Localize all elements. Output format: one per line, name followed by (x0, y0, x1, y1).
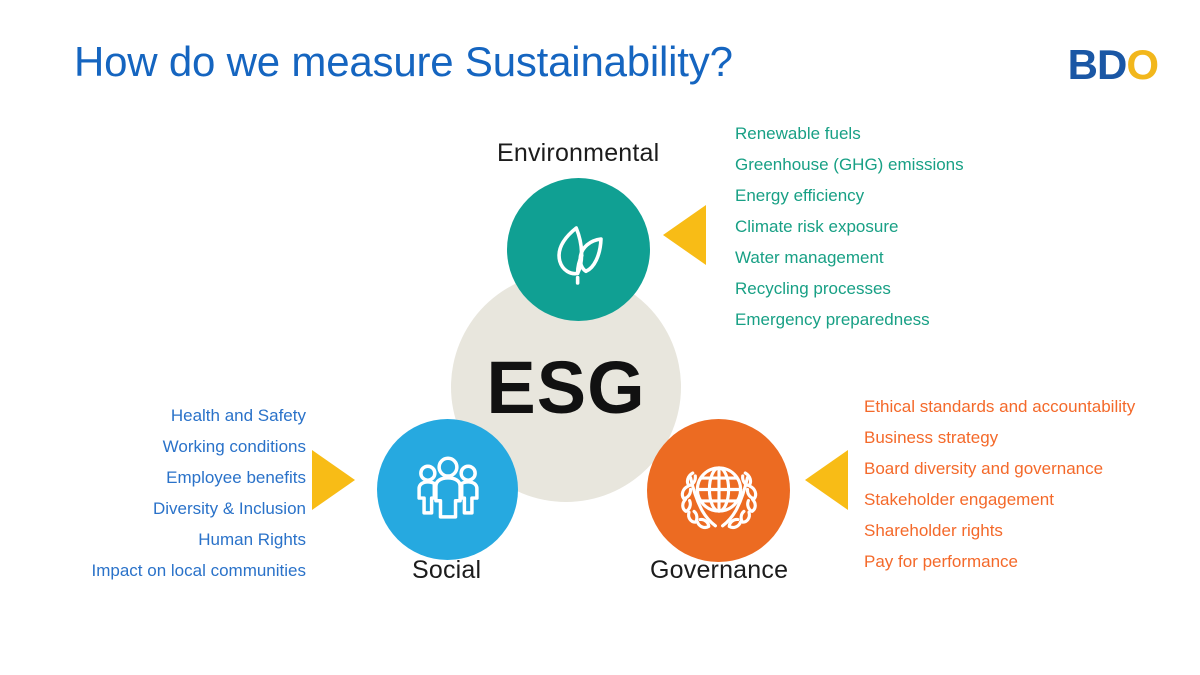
list-item: Pay for performance (864, 553, 1135, 570)
list-item: Climate risk exposure (735, 218, 964, 235)
list-social: Health and SafetyWorking conditionsEmplo… (92, 407, 306, 593)
people-group-icon (405, 447, 491, 533)
list-item: Employee benefits (92, 469, 306, 486)
list-item: Renewable fuels (735, 125, 964, 142)
list-governance: Ethical standards and accountabilityBusi… (864, 398, 1135, 584)
list-item: Business strategy (864, 429, 1135, 446)
list-item: Stakeholder engagement (864, 491, 1135, 508)
list-item: Board diversity and governance (864, 460, 1135, 477)
node-governance[interactable] (647, 419, 790, 562)
leaf-icon (535, 206, 623, 294)
list-item: Ethical standards and accountability (864, 398, 1135, 415)
list-item: Health and Safety (92, 407, 306, 424)
caption-environmental: Environmental (497, 139, 659, 168)
list-item: Greenhouse (GHG) emissions (735, 156, 964, 173)
list-item: Energy efficiency (735, 187, 964, 204)
slide-canvas: How do we measure Sustainability? BD O E… (0, 0, 1200, 675)
node-social[interactable] (377, 419, 518, 560)
caption-social: Social (412, 556, 481, 585)
list-item: Diversity & Inclusion (92, 500, 306, 517)
arrow-to-social-icon (312, 450, 355, 510)
list-item: Working conditions (92, 438, 306, 455)
globe-laurel-icon (671, 443, 767, 539)
list-item: Shareholder rights (864, 522, 1135, 539)
list-environmental: Renewable fuelsGreenhouse (GHG) emission… (735, 125, 964, 342)
list-item: Impact on local communities (92, 562, 306, 579)
arrow-to-environmental-icon (663, 205, 706, 265)
caption-governance: Governance (650, 556, 788, 585)
list-item: Recycling processes (735, 280, 964, 297)
list-item: Human Rights (92, 531, 306, 548)
node-environmental[interactable] (507, 178, 650, 321)
list-item: Water management (735, 249, 964, 266)
list-item: Emergency preparedness (735, 311, 964, 328)
arrow-to-governance-icon (805, 450, 848, 510)
